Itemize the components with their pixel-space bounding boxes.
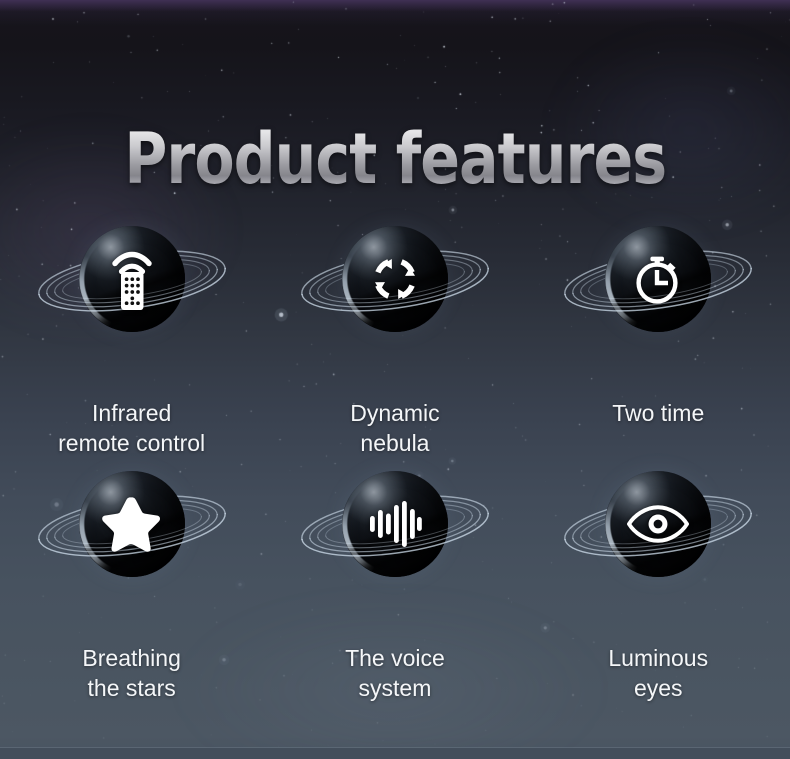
feature-item-the-voice-system[interactable]: The voicesystem	[263, 463, 526, 703]
feature-row: Breathingthe stars	[0, 463, 790, 703]
star-icon	[79, 471, 185, 577]
caption-line: eyes	[537, 673, 780, 703]
planet-illustration	[527, 218, 790, 398]
feature-item-breathing-the-stars[interactable]: Breathingthe stars	[0, 463, 263, 703]
feature-caption: The voicesystem	[263, 643, 526, 703]
top-purple-glow	[0, 0, 790, 26]
planet-illustration	[263, 218, 526, 398]
feature-caption: Infraredremote control	[0, 398, 263, 458]
feature-caption: Luminouseyes	[527, 643, 790, 703]
feature-item-luminous-eyes[interactable]: Luminouseyes	[527, 463, 790, 703]
planet-illustration	[0, 218, 263, 398]
feature-grid: Infraredremote control	[0, 218, 790, 703]
feature-item-two-time[interactable]: Two time	[527, 218, 790, 458]
feature-caption: Dynamicnebula	[263, 398, 526, 458]
eye-icon	[605, 471, 711, 577]
caption-line: Luminous	[537, 643, 780, 673]
stopwatch-icon	[605, 226, 711, 332]
feature-item-infrared-remote-control[interactable]: Infraredremote control	[0, 218, 263, 458]
caption-line: system	[273, 673, 516, 703]
rotate-cycle-icon	[342, 226, 448, 332]
feature-item-dynamic-nebula[interactable]: Dynamicnebula	[263, 218, 526, 458]
sound-wave-icon	[342, 471, 448, 577]
caption-line: nebula	[273, 428, 516, 458]
caption-line: remote control	[10, 428, 253, 458]
feature-caption: Two time	[527, 398, 790, 428]
page-title: Product features	[124, 121, 666, 197]
planet-illustration	[527, 463, 790, 643]
product-features-banner: Product features	[0, 0, 790, 759]
caption-line: Two time	[537, 398, 780, 428]
caption-line: Infrared	[10, 398, 253, 428]
feature-row: Infraredremote control	[0, 218, 790, 458]
planet-illustration	[0, 463, 263, 643]
caption-line: Dynamic	[273, 398, 516, 428]
feature-caption: Breathingthe stars	[0, 643, 263, 703]
caption-line: the stars	[10, 673, 253, 703]
planet-illustration	[263, 463, 526, 643]
remote-control-icon	[79, 226, 185, 332]
caption-line: The voice	[273, 643, 516, 673]
caption-line: Breathing	[10, 643, 253, 673]
bottom-band	[0, 748, 790, 759]
